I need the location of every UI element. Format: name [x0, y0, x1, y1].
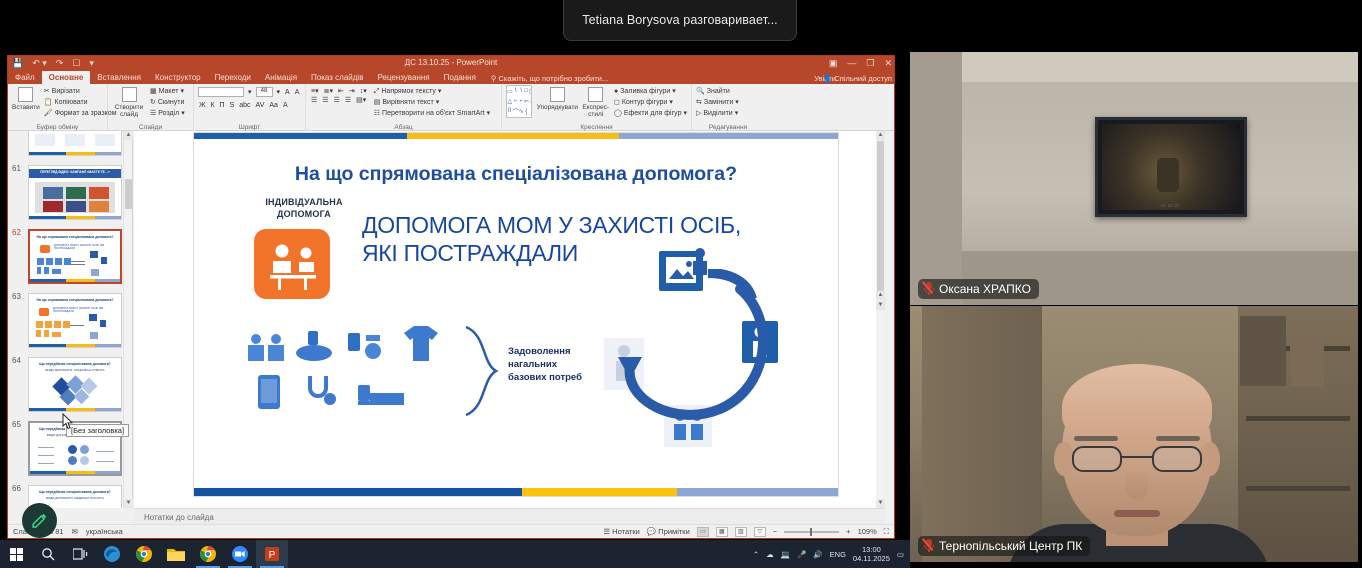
slides-group-label: Слайди	[108, 124, 193, 131]
thumbnail-title: Що передбачає спеціалізована допомога?	[29, 490, 121, 494]
restore-button[interactable]: ❐	[866, 57, 874, 69]
section-label: Розділ	[158, 109, 179, 119]
ribbon-group-slides: Створити слайд ▦Макет▾ ↻Скинути ☰Розділ▾…	[108, 84, 194, 131]
canvas-scroll-down-icon[interactable]: ▼	[876, 499, 885, 508]
thumbnail-subtitle: ДОПОМОГА МОМ У ЗАХИСТІ ОСІБ, ЯКІ ПОСТРАЖ…	[54, 244, 110, 251]
lens-left	[1072, 446, 1122, 472]
tab-transitions[interactable]: Переходи	[208, 71, 258, 84]
zoom-icon[interactable]	[224, 540, 256, 568]
view-normal-button[interactable]: ▭	[697, 527, 709, 537]
replace-button[interactable]: ⇆Замінити▾	[696, 98, 760, 108]
language-indicator[interactable]: українська	[86, 527, 123, 536]
task-view-icon[interactable]	[64, 540, 96, 568]
window-title: ДС 13.10.25 - PowerPoint	[8, 58, 894, 67]
thumbnail-subtitle: ВИДИ ДОПОМОГИ: СОЦІАЛЬНА РОБОТА	[29, 368, 121, 372]
format-painter-button[interactable]: 🖌Формат за зразком	[44, 109, 117, 119]
thumbnail-canvas: На що спрямована спеціалізована допомога…	[28, 229, 122, 284]
svg-text:P: P	[269, 550, 276, 561]
eyebrow-right	[1156, 436, 1200, 441]
thumbnail-title: На що спрямована спеціалізована допомога…	[30, 235, 120, 239]
increase-indent-button[interactable]: ⇥	[348, 87, 356, 95]
microphone-icon[interactable]: 🎤	[797, 550, 806, 559]
thumbnail-subtitle: ДОПОМОГА МОМ У ЗАХИСТІ ОСІБ, ЯКІ ПОСТРАЖ…	[53, 307, 109, 314]
canvas-previous-slide-icon[interactable]: ▲	[876, 291, 885, 300]
shape-fill-button[interactable]: ●Заливка фігури▾	[614, 87, 687, 97]
shape-fill-label: Заливка фігури	[620, 87, 670, 97]
file-explorer-icon[interactable]	[160, 540, 192, 568]
mouth	[1114, 510, 1160, 517]
close-button[interactable]: ✕	[884, 57, 892, 69]
italic-button[interactable]: К	[209, 102, 215, 109]
slide-thumbnail-61[interactable]: 61 ПЕРЕГЛЯД ВІДЕО: КАМПАНІЇ «МАЄТЕ ТЕ…»	[28, 165, 122, 220]
participant-name: Оксана ХРАПКО	[939, 282, 1031, 296]
font-group-label: Шрифт	[194, 124, 305, 131]
thumbnail-canvas: На що спрямована спеціалізована допомога…	[28, 293, 122, 348]
tab-file[interactable]: Файл	[8, 71, 42, 84]
shape-brace-right-icon[interactable]: }	[531, 109, 533, 115]
mic-muted-icon	[924, 282, 934, 296]
shape-square-icon[interactable]: □	[524, 88, 528, 94]
quick-styles-icon	[588, 87, 603, 102]
to-smartart-label: Перетворити на об'єкт SmartArt	[382, 109, 485, 119]
zoom-slider-knob[interactable]	[810, 528, 812, 536]
align-left-button[interactable]: ☰	[310, 96, 318, 104]
thumbnail-accent-bar	[29, 152, 121, 155]
zoom-active-speaker-banner: Tetiana Borysova разговаривает...	[563, 0, 797, 41]
bullets-button[interactable]: ≡▾	[310, 87, 320, 95]
orange-illustration-box[interactable]	[254, 229, 330, 299]
artwork-caption: ▭▭▭	[1098, 203, 1244, 209]
shadow-button[interactable]: S	[229, 102, 236, 109]
slide-number: 62	[12, 228, 21, 237]
individual-help-label[interactable]: ІНДИВІДУАЛЬНА ДОПОМОГА	[249, 196, 359, 220]
convert-to-smartart-button[interactable]: ☷Перетворити на об'єкт SmartArt▾	[374, 109, 490, 119]
minimize-button[interactable]: —	[847, 57, 856, 69]
thumbnail-subtitle: ВИДИ ДОПОМОГИ: МЕДИЧНА ПОСЛУГА	[29, 496, 121, 500]
ribbon-group-font: ▾ 48 ▾ A A Ж К П S abc AV Aa A Шрифт	[194, 84, 306, 131]
shape-outline-label: Контур фігури	[622, 98, 667, 108]
font-color-button[interactable]: A	[282, 102, 289, 109]
canvas-scrollbar-thumb[interactable]	[877, 141, 884, 291]
shape-cyl-icon[interactable]: ⌷	[508, 108, 512, 115]
door-background	[922, 306, 1042, 562]
scroll-up-arrow-icon[interactable]: ▲	[124, 131, 133, 140]
arrange-icon	[550, 87, 565, 102]
ribbon-group-paragraph: ≡▾≣▾⇤⇥↕▾ ☰☰☰☰▤▾ ⤢Напрямок тексту▾ ▤Вирів…	[306, 84, 502, 131]
line-spacing-button[interactable]: ↕▾	[359, 87, 368, 95]
tab-insert[interactable]: Вставлення	[90, 71, 148, 84]
select-button[interactable]: ▷Виділити▾	[696, 109, 760, 119]
thumbnail-tooltip: [Без заголовка]	[66, 424, 129, 437]
shape-corner-icon[interactable]: ⌐	[514, 98, 518, 104]
paste-button[interactable]: Вставити	[12, 85, 40, 119]
windows-taskbar: P ⌃ ☁ 💻 🎤 🔊 ENG 13:00 04.11.2025 ▭	[0, 540, 910, 568]
shape-arrow-icon[interactable]: \	[520, 88, 522, 94]
paste-label: Вставити	[12, 104, 40, 111]
view-slide-sorter-button[interactable]: ▦	[716, 527, 728, 537]
thumbnail-accent-bar	[29, 408, 121, 411]
thumbnail-accent-bar	[30, 471, 120, 474]
mobile-phone-icon	[256, 373, 282, 411]
needs-line3: базових потреб	[508, 372, 582, 383]
thumbnails-scrollbar[interactable]: ▲ ▼	[123, 131, 132, 508]
heading-line2: ЯКІ ПОСТРАЖДАЛИ	[362, 240, 578, 266]
new-slide-icon	[122, 87, 137, 102]
section-button[interactable]: ☰Розділ▾	[150, 109, 185, 119]
tab-slideshow[interactable]: Показ слайдів	[304, 71, 370, 84]
reset-button[interactable]: ↻Скинути	[150, 98, 185, 108]
slide-number: 64	[12, 356, 21, 365]
needs-line1: Задоволення	[508, 346, 571, 357]
notes-toggle-label: Нотатки	[612, 527, 640, 536]
chrome-icon[interactable]	[128, 540, 160, 568]
slide-editing-canvas[interactable]: На що спрямована спеціалізована допомога…	[134, 131, 885, 508]
shape-triangle-icon[interactable]: △	[508, 98, 513, 105]
tab-review[interactable]: Рецензування	[370, 71, 436, 84]
curly-brace-icon	[456, 323, 502, 419]
slide-number: 65	[12, 420, 21, 429]
ribbon: Вставити ✂Вирізати 📋Копіювати 🖌Формат за…	[8, 84, 894, 131]
copy-button[interactable]: 📋Копіювати	[44, 98, 117, 108]
tab-animations[interactable]: Анімація	[258, 71, 304, 84]
columns-button[interactable]: ▤▾	[355, 96, 367, 104]
needs-line2: нагальних	[508, 359, 557, 370]
layout-button[interactable]: ▦Макет▾	[150, 87, 185, 97]
reset-label: Скинути	[158, 98, 185, 108]
text-direction-button[interactable]: ⤢Напрямок тексту▾	[374, 87, 490, 97]
shapes-gallery[interactable]: ▭\\□▢○○▱▰ △⌐⌐⇦⇩⬠⬡›▷ ⌷⌒∿{}☆✦❏▵	[506, 85, 532, 118]
annotate-pencil-button[interactable]	[22, 503, 57, 538]
ribbon-group-editing: 🔍Знайти ⇆Замінити▾ ▷Виділити▾ Редагуванн…	[692, 84, 764, 131]
find-button[interactable]: 🔍Знайти	[696, 87, 760, 97]
select-label: Виділити	[703, 109, 732, 119]
shape-elbow-icon[interactable]: ⌐	[519, 98, 523, 104]
mic-muted-icon	[924, 539, 934, 553]
copy-label: Копіювати	[55, 98, 88, 108]
clock-time: 13:00	[853, 545, 890, 554]
slide-bottom-accent-bar	[194, 488, 838, 496]
shape-outline-button[interactable]: ◻Контур фігури▾	[614, 98, 687, 108]
shape-arc-icon[interactable]: ∿	[519, 108, 524, 115]
shape-arrow-down-icon[interactable]: ⇩	[529, 98, 532, 105]
cut-label: Вирізати	[52, 87, 80, 97]
shape-effects-button[interactable]: ◯Ефекти для фігур▾	[614, 109, 687, 119]
scrollbar-thumb[interactable]	[125, 179, 132, 209]
new-slide-label: Створити слайд	[112, 104, 146, 118]
spellcheck-icon[interactable]: ✉	[72, 527, 78, 536]
strikethrough-button[interactable]: abc	[238, 102, 251, 109]
slide-thumbnail-60[interactable]: •••	[28, 131, 122, 156]
participant-name-badge: Тернопільський Центр ПК	[918, 536, 1090, 556]
fit-to-window-button[interactable]: ⛶	[884, 527, 889, 537]
shelter-bed-icon	[356, 379, 406, 409]
paste-icon	[18, 87, 33, 102]
ribbon-display-options-icon[interactable]: ▣	[829, 57, 838, 69]
lens-right	[1152, 446, 1202, 472]
individual-help-line1: ІНДИВІДУАЛЬНА	[265, 197, 342, 207]
font-size-input[interactable]: 48	[256, 87, 273, 97]
thumbnail-accent-bar	[29, 216, 121, 219]
shape-rounded-icon[interactable]: ▢	[529, 88, 533, 95]
view-reading-button[interactable]: ▥	[735, 527, 747, 537]
tell-me-text: Скажіть, що потрібно зробити...	[498, 74, 608, 83]
align-center-button[interactable]: ☰	[321, 96, 329, 104]
view-slideshow-button[interactable]: ▽	[754, 527, 766, 537]
slide-top-accent-bar	[194, 133, 838, 139]
system-tray: ⌃ ☁ 💻 🎤 🔊 ENG 13:00 04.11.2025 ▭	[753, 545, 910, 563]
tell-me-box[interactable]: ⚲ Скажіть, що потрібно зробити...	[491, 73, 608, 84]
thumbnail-accent-bar	[29, 344, 121, 347]
paragraph-group-label: Абзац	[306, 124, 501, 131]
basic-needs-label[interactable]: Задоволення нагальних базових потреб	[508, 345, 603, 384]
ribbon-group-drawing: ▭\\□▢○○▱▰ △⌐⌐⇦⇩⬠⬡›▷ ⌷⌒∿{}☆✦❏▵ Упорядкува…	[502, 84, 692, 131]
language-indicator[interactable]: ENG	[830, 550, 846, 559]
cycle-arrow-icon	[590, 269, 780, 439]
ear-left	[1054, 442, 1074, 476]
drawing-group-label: Креслення	[502, 124, 691, 131]
artwork-figure	[1157, 158, 1179, 192]
notes-placeholder: Нотатки до слайда	[144, 513, 214, 522]
font-name-dropdown-icon[interactable]: ▾	[247, 88, 253, 96]
ppt-status-bar: Слайд 62 із 81 ✉ українська ☰ Нотатки 💬 …	[8, 524, 894, 538]
new-slide-button[interactable]: Створити слайд	[112, 85, 146, 119]
bold-button[interactable]: Ж	[198, 102, 206, 109]
participant-head	[1062, 364, 1212, 536]
onedrive-icon[interactable]: ☁	[766, 550, 774, 559]
wall-artwork-frame: ▭▭▭	[1095, 117, 1247, 217]
canvas-next-slide-icon[interactable]: ▼	[876, 301, 885, 310]
network-icon[interactable]: 💻	[781, 550, 790, 559]
ribbon-tabs: Файл Основне Вставлення Конструктор Пере…	[8, 71, 894, 84]
thumbnail-canvas: Що передбачає спеціалізована допомога? В…	[28, 357, 122, 412]
powerpoint-icon[interactable]: P	[256, 540, 288, 568]
share-label: Спільний доступ	[834, 74, 892, 83]
zoom-slider[interactable]	[784, 531, 839, 533]
edge-icon[interactable]	[96, 540, 128, 568]
shape-rect-icon[interactable]: ▭	[507, 88, 513, 95]
nose	[1126, 468, 1148, 500]
shrink-font-icon[interactable]: A	[294, 89, 301, 96]
mouse-cursor-icon	[62, 413, 74, 430]
quick-styles-label: Експрес-стилі	[582, 104, 609, 118]
notes-toggle-button[interactable]: ☰ Нотатки	[603, 527, 640, 536]
eyebrow-left	[1074, 436, 1118, 441]
shape-effects-label: Ефекти для фігур	[624, 109, 682, 119]
numbering-button[interactable]: ≣▾	[323, 87, 334, 95]
slide-thumbnail-64[interactable]: 64 Що передбачає спеціалізована допомога…	[28, 357, 122, 412]
font-name-input[interactable]	[198, 87, 244, 97]
video-tile-ternopil[interactable]: Тернопільський Центр ПК	[910, 306, 1358, 562]
window-controls: ▣ — ❐ ✕	[829, 57, 892, 69]
layout-label: Макет	[159, 87, 179, 97]
find-label: Знайти	[707, 87, 730, 97]
work-area: ••• 61 ПЕРЕГЛЯД ВІДЕО: КАМПАНІЇ «МАЄТЕ Т…	[8, 131, 894, 538]
change-case-button[interactable]: Aa	[268, 102, 279, 109]
screen: Tetiana Borysova разговаривает... 💾 ↶ ▾ …	[0, 0, 1362, 568]
grow-font-icon[interactable]: A	[284, 89, 291, 96]
zoom-level[interactable]: 109%	[858, 527, 877, 536]
thumbnail-accent-bar	[30, 279, 120, 282]
justify-button[interactable]: ☰	[344, 96, 352, 104]
slide-thumbnail-63[interactable]: 63 На що спрямована спеціалізована допом…	[28, 293, 122, 348]
character-spacing-button[interactable]: AV	[255, 102, 266, 109]
tab-view[interactable]: Подання	[437, 71, 483, 84]
tab-home[interactable]: Основне	[42, 71, 91, 84]
comments-toggle-label: Примітки	[658, 527, 689, 536]
thumbnail-title: ПЕРЕГЛЯД ВІДЕО: КАМПАНІЇ «МАЄТЕ ТЕ…»	[29, 170, 121, 174]
glasses-bridge	[1122, 456, 1152, 458]
quick-styles-button[interactable]: Експрес-стилі	[582, 85, 609, 118]
arrange-label: Упорядкувати	[537, 104, 578, 111]
align-text-label: Вирівняти текст	[382, 98, 433, 108]
slide-number: 61	[12, 164, 21, 173]
ear-right	[1200, 442, 1220, 476]
water-food-icon	[294, 329, 336, 365]
clock[interactable]: 13:00 04.11.2025	[853, 545, 890, 563]
comments-toggle-button[interactable]: 💬 Примітки	[647, 527, 690, 536]
tab-design[interactable]: Конструктор	[148, 71, 208, 84]
chrome-window-icon[interactable]	[192, 540, 224, 568]
align-text-button[interactable]: ▤Вирівняти текст▾	[374, 98, 490, 108]
slide-thumbnails-pane[interactable]: ••• 61 ПЕРЕГЛЯД ВІДЕО: КАМПАНІЇ «МАЄТЕ Т…	[8, 131, 133, 508]
current-slide[interactable]: На що спрямована спеціалізована допомога…	[194, 133, 838, 496]
clipboard-group-label: Буфер обміну	[8, 124, 107, 131]
replace-label: Замінити	[704, 98, 733, 108]
scroll-down-arrow-icon[interactable]: ▼	[124, 499, 133, 508]
font-size-dropdown-icon[interactable]: ▾	[276, 88, 282, 96]
thumbnail-title: Що передбачає спеціалізована допомога?	[29, 362, 121, 366]
tray-chevron-icon[interactable]: ⌃	[753, 550, 759, 559]
underline-button[interactable]: П	[219, 102, 226, 109]
start-icon[interactable]	[0, 540, 32, 568]
slide-number: 63	[12, 292, 21, 301]
canvas-scroll-up-icon[interactable]: ▲	[876, 131, 885, 140]
editing-group-label: Редагування	[692, 124, 764, 131]
slide-thumbnail-62[interactable]: 62 На що спрямована спеціалізована допом…	[28, 229, 122, 284]
volume-icon[interactable]: 🔊	[813, 550, 822, 559]
ppt-title-bar: 💾 ↶ ▾ ↷ ☐ ▾ ДС 13.10.25 - PowerPoint ▣ —…	[8, 56, 894, 71]
ribbon-group-clipboard: Вставити ✂Вирізати 📋Копіювати 🖌Формат за…	[8, 84, 108, 131]
participant-name-badge: Оксана ХРАПКО	[918, 279, 1039, 299]
canvas-scrollbar[interactable]: ▲ ▲ ▼ ▼	[876, 131, 885, 508]
individual-help-line2: ДОПОМОГА	[277, 209, 331, 219]
slide-number: 66	[12, 484, 21, 493]
text-direction-label: Напрямок тексту	[381, 87, 436, 97]
medical-stethoscope-icon	[304, 373, 338, 411]
powerpoint-window: 💾 ↶ ▾ ↷ ☐ ▾ ДС 13.10.25 - PowerPoint ▣ —…	[8, 56, 894, 538]
shape-line-icon[interactable]: \	[515, 88, 517, 94]
food-basket-icon	[246, 331, 286, 365]
align-right-button[interactable]: ☰	[333, 96, 341, 104]
thumbnail-canvas: ПЕРЕГЛЯД ВІДЕО: КАМПАНІЇ «МАЄТЕ ТЕ…»	[28, 165, 122, 220]
zoom-in-button[interactable]: +	[846, 527, 850, 536]
zoom-out-button[interactable]: −	[773, 527, 777, 536]
decrease-indent-button[interactable]: ⇤	[337, 87, 345, 95]
clock-date: 04.11.2025	[853, 554, 890, 563]
slide-title[interactable]: На що спрямована спеціалізована допомога…	[194, 163, 838, 186]
arrange-button[interactable]: Упорядкувати	[537, 85, 577, 111]
shape-arrow-left-icon[interactable]: ⇦	[524, 98, 529, 105]
share-button[interactable]: 👤 Спільний доступ	[823, 74, 892, 83]
pencil-icon	[31, 512, 48, 529]
shape-brace-left-icon[interactable]: {	[525, 109, 527, 115]
active-speaker-text: Tetiana Borysova разговаривает...	[582, 13, 778, 27]
heading-line1: ДОПОМОГА МОМ У ЗАХИСТІ ОСІБ,	[362, 212, 741, 238]
video-tile-oksana[interactable]: ▭▭▭ Оксана ХРАПКО	[910, 52, 1358, 305]
hygiene-icon	[344, 329, 388, 365]
participant-name: Тернопільський Центр ПК	[939, 539, 1082, 553]
clothing-tshirt-icon	[400, 323, 442, 365]
thumbnail-title: На що спрямована спеціалізована допомога…	[29, 298, 121, 302]
cut-button[interactable]: ✂Вирізати	[44, 87, 117, 97]
notifications-icon[interactable]: ▭	[897, 550, 904, 559]
thumbnail-canvas: •••	[28, 131, 122, 156]
search-icon[interactable]	[32, 540, 64, 568]
